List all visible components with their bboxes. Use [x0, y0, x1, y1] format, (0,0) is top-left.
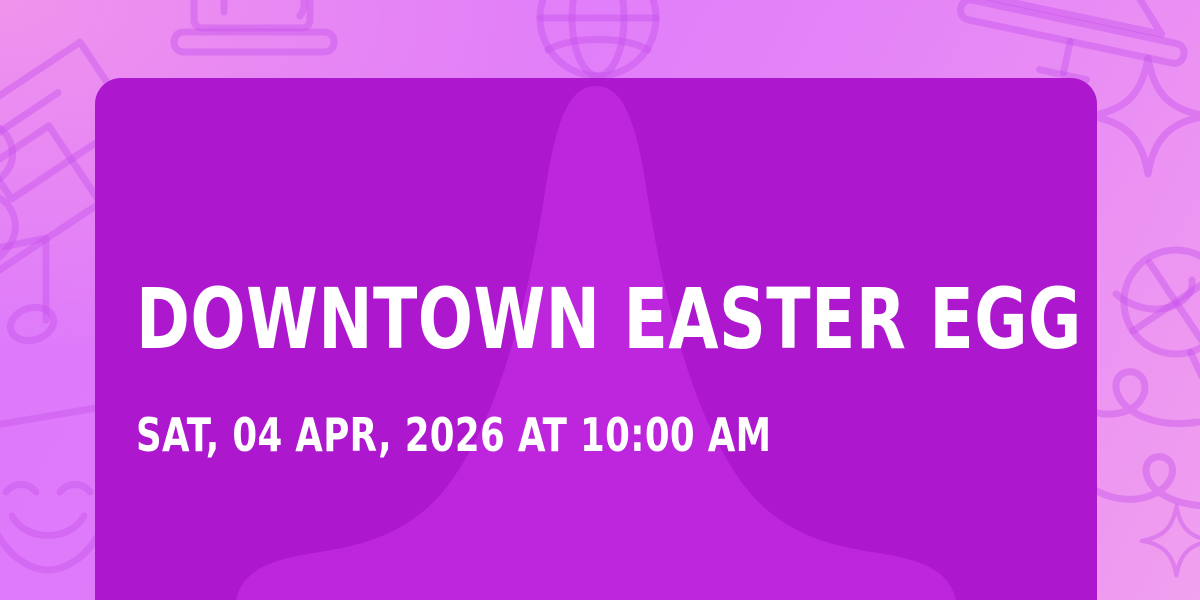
event-datetime: Sat, 04 Apr, 2026 at 10:00 AM: [136, 410, 771, 460]
globe-icon: [540, 0, 656, 76]
event-card: Downtown Easter Egg Walk Sat, 04 Apr, 20…: [95, 78, 1097, 600]
sparkle-small-icon: [1142, 506, 1200, 576]
event-title: Downtown Easter Egg Walk: [136, 276, 1097, 362]
podium-stage-icon: [174, 0, 334, 52]
sparkle-star-icon: [1090, 58, 1200, 174]
balloon-icon: [1104, 230, 1200, 419]
music-note-icon: [0, 238, 58, 357]
event-card-content: Downtown Easter Egg Walk Sat, 04 Apr, 20…: [95, 78, 1097, 600]
event-banner: Downtown Easter Egg Walk Sat, 04 Apr, 20…: [0, 0, 1200, 600]
